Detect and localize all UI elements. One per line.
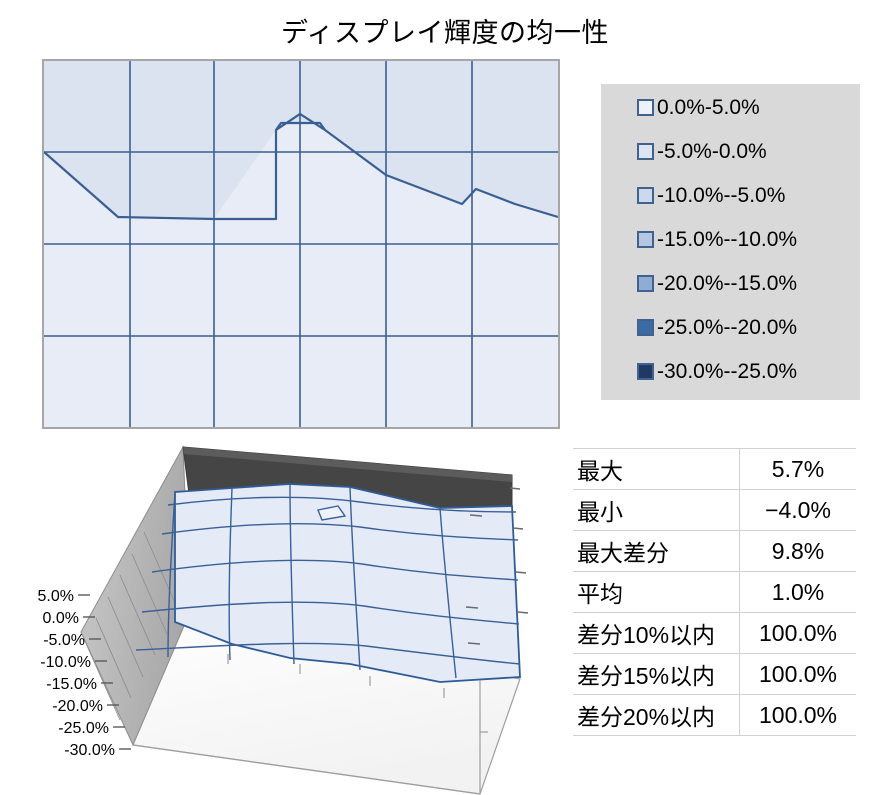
legend-item-label: 0.0%-5.0% (657, 97, 760, 118)
legend-item-label: -20.0%--15.0% (657, 273, 797, 294)
table-row: 差分15%以内 100.0% (573, 654, 856, 695)
table-row: 差分20%以内 100.0% (573, 695, 856, 736)
stat-value: 100.0% (740, 654, 857, 695)
stat-value: 5.7% (740, 449, 857, 490)
stat-label: 最大 (573, 449, 740, 490)
legend-item-label: -25.0%--20.0% (657, 317, 797, 338)
table-row: 最大 5.7% (573, 449, 856, 490)
legend-item-label: -10.0%--5.0% (657, 185, 785, 206)
zaxis-tick-label: -30.0% (64, 742, 115, 759)
legend-swatch-icon (637, 363, 654, 380)
legend-item[interactable]: -30.0%--25.0% (637, 356, 797, 386)
contour-plot-canvas (44, 61, 558, 427)
legend: 0.0%-5.0% -5.0%-0.0% -10.0%--5.0% -15.0%… (601, 84, 860, 400)
legend-item[interactable]: -10.0%--5.0% (637, 180, 785, 210)
legend-item[interactable]: -20.0%--15.0% (637, 268, 797, 298)
contour-plot[interactable] (42, 59, 560, 429)
page-title: ディスプレイ輝度の均一性 (0, 16, 890, 50)
stat-label: 最大差分 (573, 531, 740, 572)
stat-label: 最小 (573, 490, 740, 531)
zaxis-tick-label: 5.0% (38, 588, 74, 605)
table-row: 平均 1.0% (573, 572, 856, 613)
legend-swatch-icon (637, 275, 654, 292)
stat-label: 差分15%以内 (573, 654, 740, 695)
zaxis-tick-label: -5.0% (43, 632, 85, 649)
stat-value: 9.8% (740, 531, 857, 572)
stat-value: 1.0% (740, 572, 857, 613)
stat-label: 平均 (573, 572, 740, 613)
legend-swatch-icon (637, 231, 654, 248)
zaxis-tick-label: -20.0% (52, 698, 103, 715)
table-row: 最小 −4.0% (573, 490, 856, 531)
legend-item[interactable]: -5.0%-0.0% (637, 136, 767, 166)
table-row: 差分10%以内 100.0% (573, 613, 856, 654)
zaxis-tick-label: -25.0% (58, 720, 109, 737)
legend-item-label: -15.0%--10.0% (657, 229, 797, 250)
legend-item[interactable]: -15.0%--10.0% (637, 224, 797, 254)
stat-value: −4.0% (740, 490, 857, 531)
legend-swatch-icon (637, 143, 654, 160)
table-row: 最大差分 9.8% (573, 531, 856, 572)
legend-item-label: -5.0%-0.0% (657, 141, 767, 162)
stat-label: 差分20%以内 (573, 695, 740, 736)
legend-item[interactable]: -25.0%--20.0% (637, 312, 797, 342)
legend-item-label: -30.0%--25.0% (657, 361, 797, 382)
zaxis-tick-label: -10.0% (40, 654, 91, 671)
legend-swatch-icon (637, 187, 654, 204)
legend-swatch-icon (637, 319, 654, 336)
surface-chart-canvas: 5.0% 0.0% -5.0% -10.0% -15.0% -20.0% -25… (0, 432, 560, 795)
stat-value: 100.0% (740, 695, 857, 736)
stats-table: 最大 5.7% 最小 −4.0% 最大差分 9.8% 平均 1.0% 差分10%… (573, 448, 856, 736)
stat-label: 差分10%以内 (573, 613, 740, 654)
legend-item[interactable]: 0.0%-5.0% (637, 92, 760, 122)
zaxis-tick-label: 0.0% (43, 610, 79, 627)
stat-value: 100.0% (740, 613, 857, 654)
surface-chart[interactable]: 5.0% 0.0% -5.0% -10.0% -15.0% -20.0% -25… (0, 432, 560, 795)
zaxis-tick-label: -15.0% (46, 676, 97, 693)
legend-swatch-icon (637, 99, 654, 116)
